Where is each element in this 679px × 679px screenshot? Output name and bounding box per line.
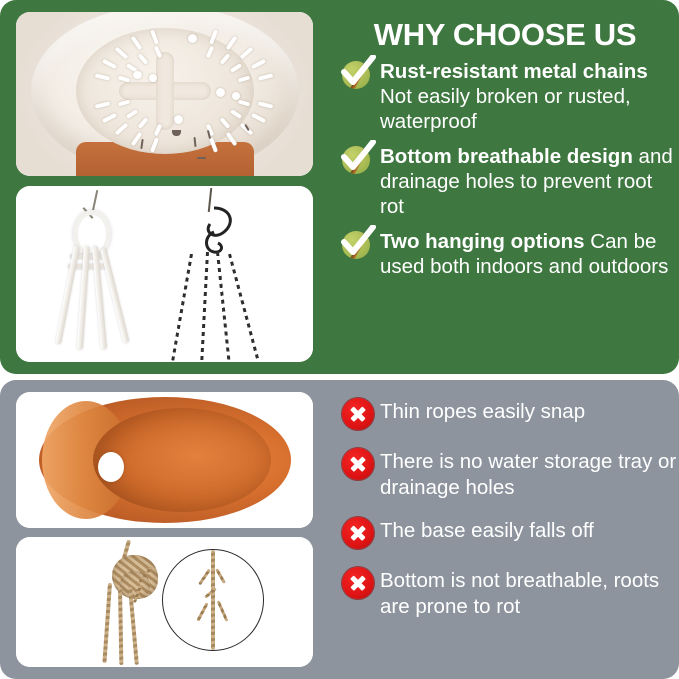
chain-strand-3 <box>216 252 231 362</box>
rope-illustration <box>16 537 313 667</box>
page-title: WHY CHOOSE US <box>340 17 670 53</box>
hanger-hook-wire <box>92 190 99 212</box>
pros-list: Rust-resistant metal chains Not easily b… <box>338 58 679 288</box>
pro-item-bold: Two hanging options <box>380 230 585 253</box>
con-item-text: Thin ropes easily snap <box>380 396 679 425</box>
pro-item-text: Bottom breathable design and drainage ho… <box>380 143 679 219</box>
frayed-rope-photo <box>16 537 313 667</box>
hanging-options-photo <box>16 186 313 362</box>
drainage-base-illustration <box>16 12 313 176</box>
pro-item-text: Rust-resistant metal chains Not easily b… <box>380 58 679 134</box>
con-item-text: The base easily falls off <box>380 515 679 544</box>
pro-item: Bottom breathable design and drainage ho… <box>338 143 679 219</box>
magnified-fray-3 <box>196 602 208 621</box>
rope-strand-1 <box>102 583 112 663</box>
plastic-arm-1 <box>55 245 80 344</box>
x-icon <box>336 565 380 601</box>
check-icon <box>338 228 378 262</box>
chain-strand-2 <box>200 252 209 362</box>
drain-hole-5 <box>232 92 240 100</box>
pro-item-bold: Bottom breathable design <box>380 145 633 168</box>
con-item: There is no water storage tray or draina… <box>336 446 679 501</box>
magnified-fray-1 <box>198 569 211 586</box>
white-drainage-base-photo <box>16 12 313 176</box>
check-icon <box>338 143 378 177</box>
pro-item: Rust-resistant metal chains Not easily b… <box>338 58 679 134</box>
pro-item-rest: Not easily broken or rusted, waterproof <box>380 85 631 133</box>
x-icon <box>336 396 380 432</box>
con-item: Thin ropes easily snap <box>336 396 679 432</box>
magnified-fray-4 <box>217 600 229 621</box>
notch-6 <box>197 157 206 159</box>
con-item: Bottom is not breathable, roots are pron… <box>336 565 679 620</box>
x-icon <box>336 446 380 482</box>
check-icon <box>338 58 378 92</box>
con-item-text: There is no water storage tray or draina… <box>380 446 679 501</box>
s-hook-icon <box>184 206 244 258</box>
terracotta-pot-photo <box>16 392 313 528</box>
pro-item: Two hanging options Can be used both ind… <box>338 228 679 279</box>
plastic-arm-2 <box>77 246 90 350</box>
cons-content: Thin ropes easily snapThere is no water … <box>330 380 679 679</box>
pot-illustration <box>16 392 313 528</box>
magnified-core <box>211 550 215 650</box>
con-item: The base easily falls off <box>336 515 679 551</box>
hangers-illustration <box>16 186 313 362</box>
drain-hole-2 <box>133 71 142 79</box>
cross-support <box>119 52 211 130</box>
drain-hole-1 <box>188 34 197 43</box>
comparison-infographic: WHY CHOOSE US Rust-resistant metal chain… <box>0 0 679 679</box>
x-icon <box>336 515 380 551</box>
pros-content: WHY CHOOSE US Rust-resistant metal chain… <box>330 0 679 374</box>
drain-hole-6 <box>174 115 183 124</box>
chain-strand-1 <box>171 254 193 362</box>
cons-list: Thin ropes easily snapThere is no water … <box>336 396 679 634</box>
pro-item-text: Two hanging options Can be used both ind… <box>380 228 679 279</box>
pot-drain-hole <box>98 452 124 482</box>
magnified-fray-2 <box>215 568 226 583</box>
drain-hole-4 <box>216 88 225 97</box>
drain-hole-3 <box>149 74 157 82</box>
con-item-text: Bottom is not breathable, roots are pron… <box>380 565 679 620</box>
pro-item-bold: Rust-resistant metal chains <box>380 60 648 83</box>
rope-strand-2 <box>118 587 123 665</box>
chain-strand-4 <box>228 254 259 359</box>
magnifier-circle <box>162 549 264 651</box>
